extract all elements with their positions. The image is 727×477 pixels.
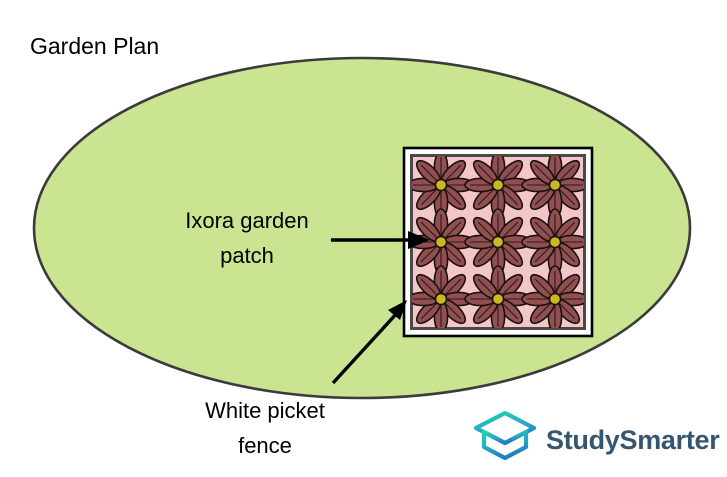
garden-plan-svg: Ixora garden patch White picket fence Ga… <box>0 0 727 477</box>
callout-label-ixora-line1: Ixora garden <box>185 208 309 233</box>
studysmarter-wordmark: StudySmarter <box>546 425 720 455</box>
studysmarter-logo: StudySmarter <box>476 413 720 458</box>
garden-plan-figure: Ixora garden patch White picket fence Ga… <box>0 0 727 477</box>
page-title: Garden Plan <box>30 33 159 59</box>
flower-grid <box>408 152 588 332</box>
studysmarter-cube-logo-icon <box>476 413 534 458</box>
callout-label-ixora-line2: patch <box>220 243 274 268</box>
callout-label-fence-line2: fence <box>238 433 292 458</box>
ixora-garden-patch <box>404 148 592 336</box>
callout-label-fence-line1: White picket <box>205 398 325 423</box>
